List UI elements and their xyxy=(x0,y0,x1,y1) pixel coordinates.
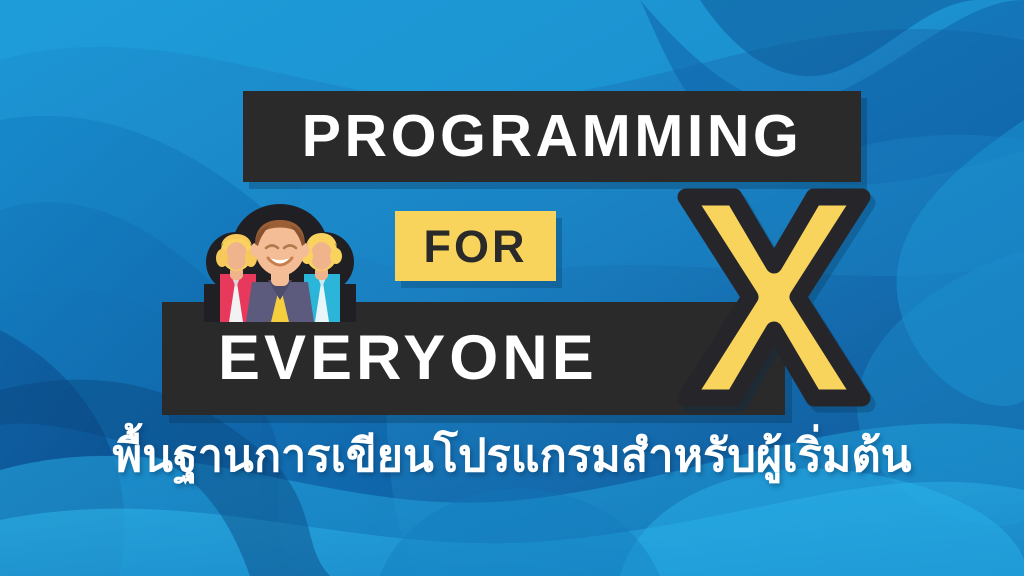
subtitle-text-thai: พื้นฐานการเขียนโปรแกรมสำหรับผู้เริ่มต้น xyxy=(113,429,912,482)
headline-text-programming: PROGRAMMING xyxy=(302,107,803,166)
x-logo-icon xyxy=(668,185,880,410)
headline-text-everyone: EVERYONE xyxy=(218,327,598,390)
subtitle-block: พื้นฐานการเขียนโปรแกรมสำหรับผู้เริ่มต้น xyxy=(0,432,1024,479)
headline-badge-for: FOR xyxy=(395,211,556,281)
headline-bar-programming: PROGRAMMING xyxy=(243,91,861,182)
headline-text-for: FOR xyxy=(424,224,528,269)
people-group-illustration xyxy=(200,196,360,322)
poster-canvas: PROGRAMMING xyxy=(0,0,1024,576)
